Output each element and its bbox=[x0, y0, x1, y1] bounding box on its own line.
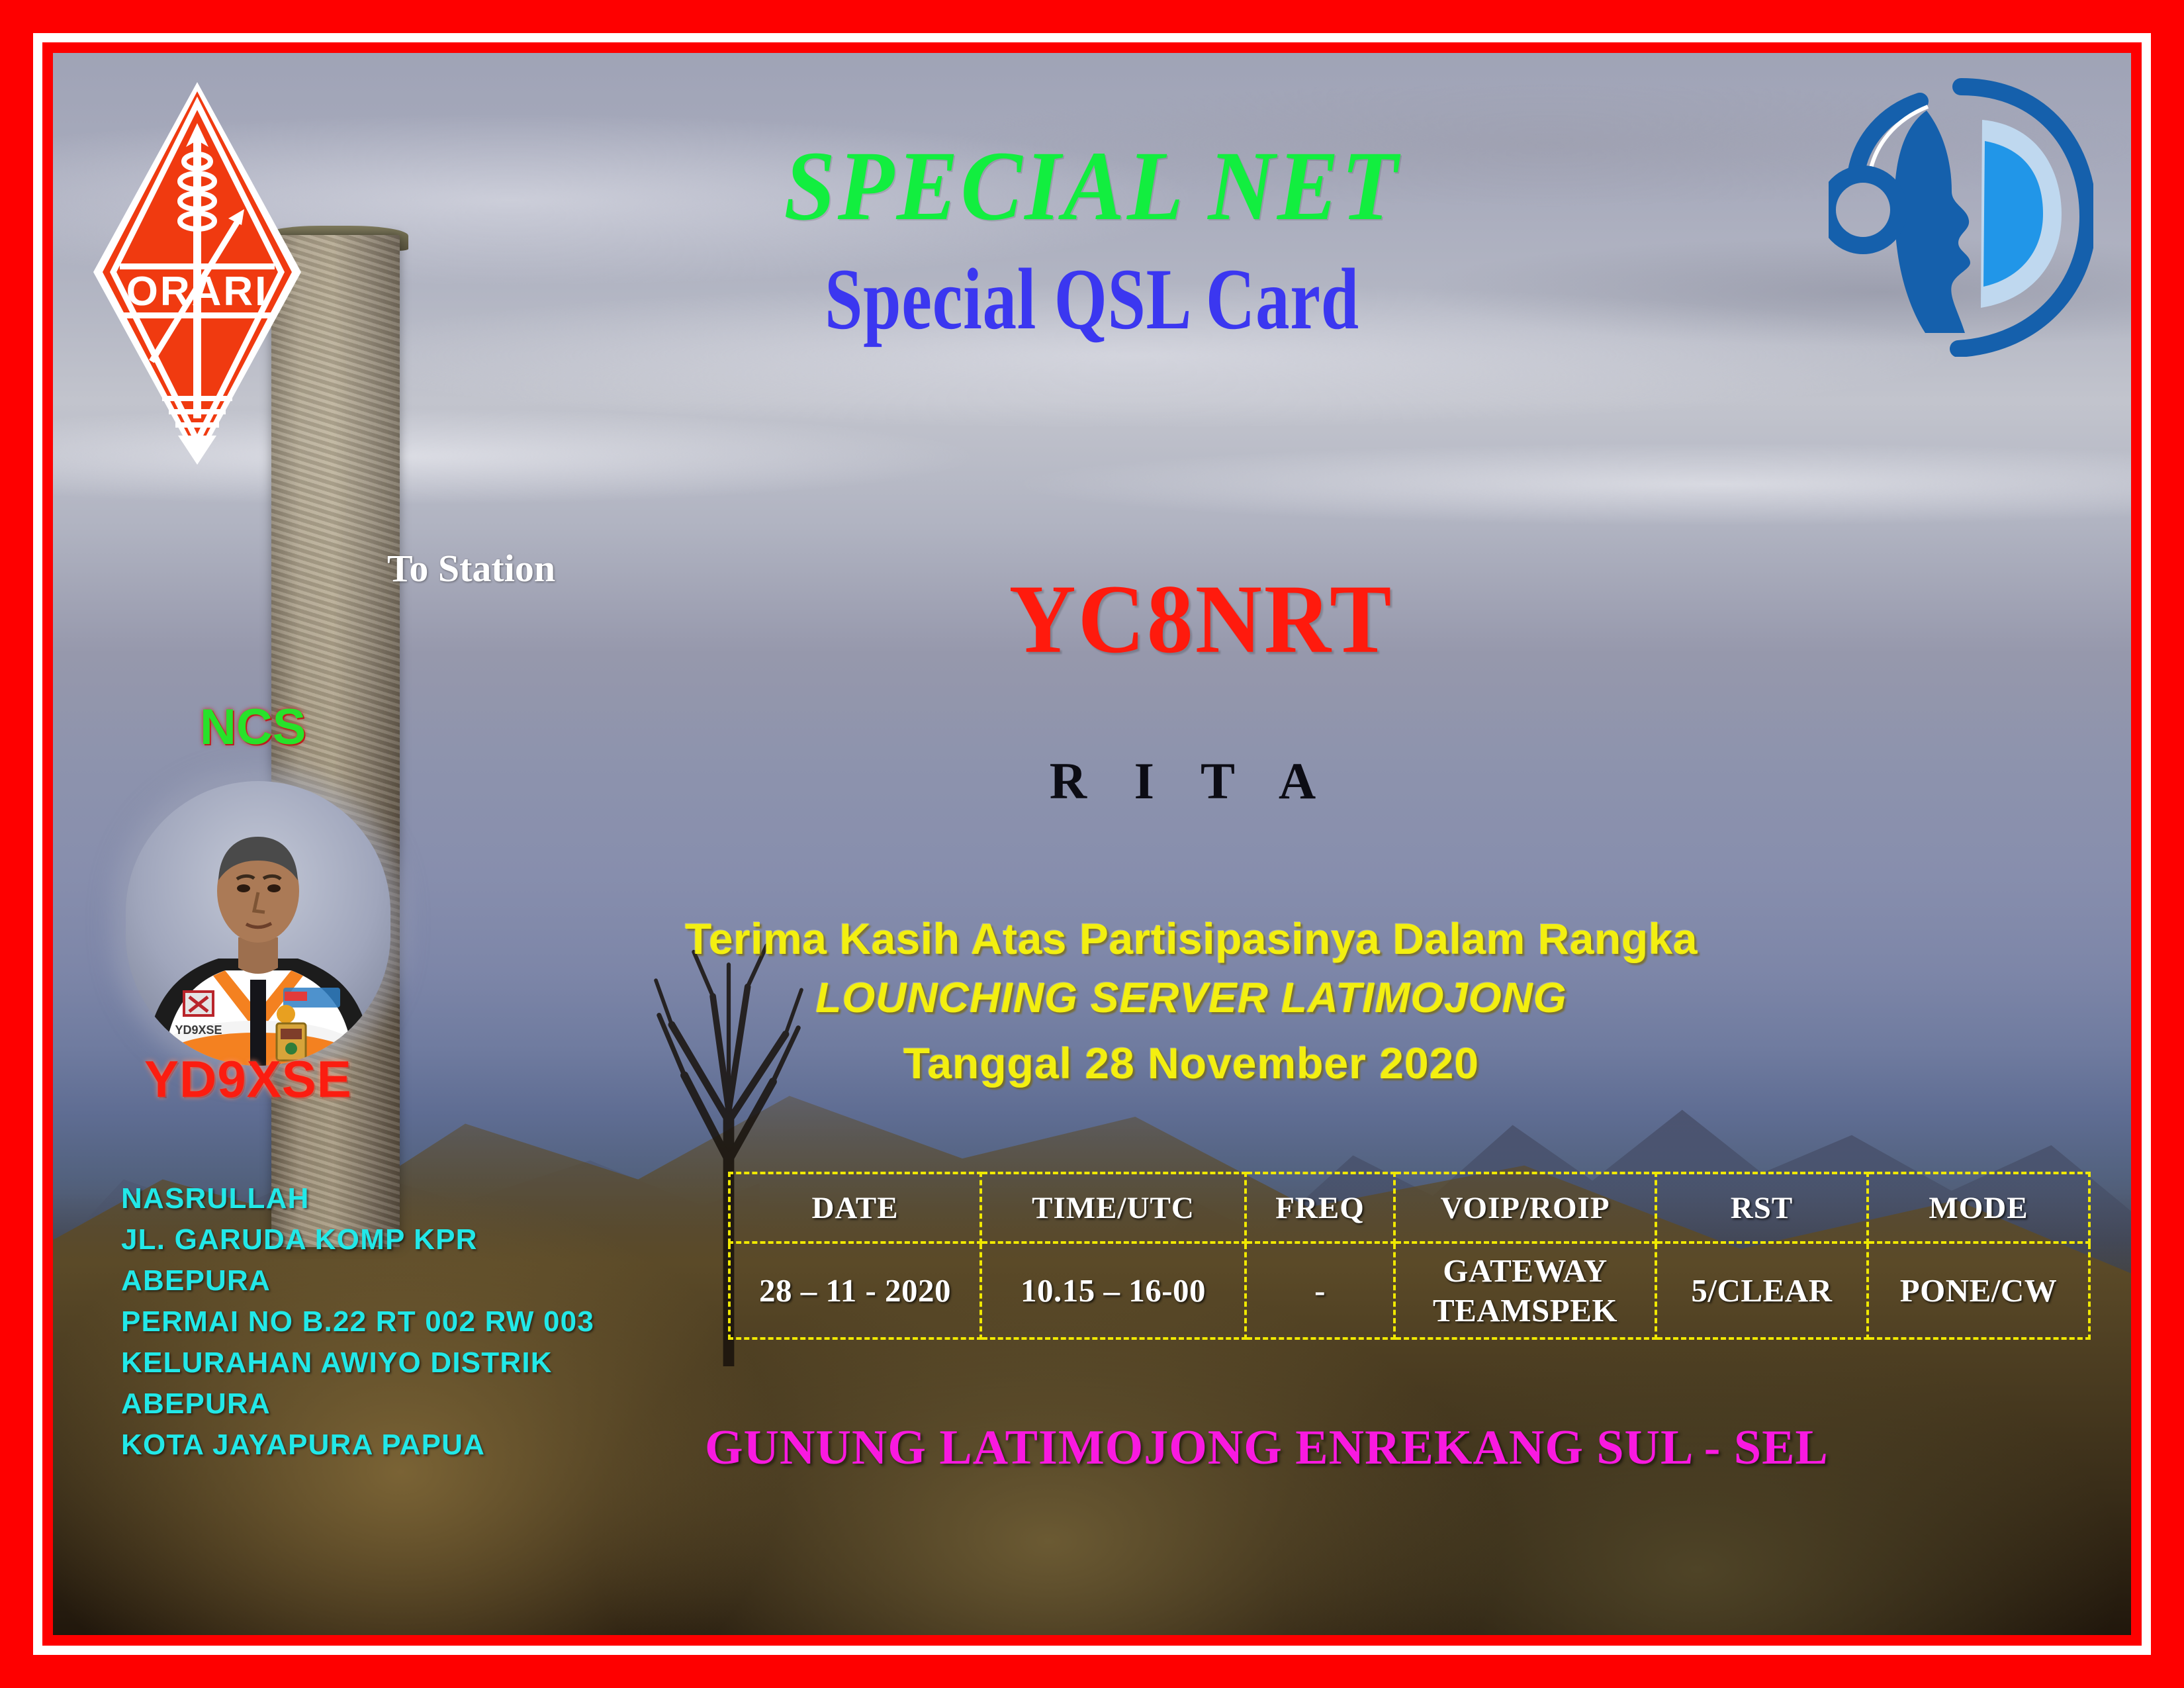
thanks-line-2-event: LOUNCHING SERVER LATIMOJONG bbox=[53, 973, 2131, 1022]
orari-logo-text: ORARI bbox=[126, 269, 269, 314]
column-header-freq: FREQ bbox=[1246, 1173, 1394, 1243]
location-line: GUNUNG LATIMOJONG ENREKANG SUL - SEL bbox=[705, 1420, 1829, 1476]
qsl-card: ORARI bbox=[0, 0, 2184, 1688]
address-line-6: ABEPURA bbox=[121, 1383, 594, 1425]
column-header-rst: RST bbox=[1656, 1173, 1868, 1243]
address-line-1: NASRULLAH bbox=[121, 1178, 594, 1219]
column-header-voip: VOIP/ROIP bbox=[1394, 1173, 1656, 1243]
background-photo-mountain-summit: ORARI bbox=[53, 53, 2131, 1635]
thanks-line-1: Terima Kasih Atas Partisipasinya Dalam R… bbox=[53, 914, 2131, 964]
shirt-badge-callsign: YD9XSE bbox=[175, 1023, 222, 1037]
table-header-row: DATE TIME/UTC FREQ VOIP/ROIP RST MODE bbox=[729, 1173, 2089, 1243]
address-line-2: JL. GARUDA KOMP KPR bbox=[121, 1219, 594, 1260]
cell-mode: PONE/CW bbox=[1868, 1243, 2089, 1338]
cell-rst: 5/CLEAR bbox=[1656, 1243, 1868, 1338]
address-line-3: ABEPURA bbox=[121, 1260, 594, 1301]
thanks-line-3-date: Tanggal 28 November 2020 bbox=[53, 1038, 2131, 1088]
address-block: NASRULLAH JL. GARUDA KOMP KPR ABEPURA PE… bbox=[121, 1178, 594, 1466]
column-header-mode: MODE bbox=[1868, 1173, 2089, 1243]
ncs-label: NCS bbox=[200, 698, 306, 756]
cell-voip: GATEWAYTEAMSPEK bbox=[1394, 1243, 1656, 1338]
cell-date: 28 – 11 - 2020 bbox=[729, 1243, 981, 1338]
qso-log-table: DATE TIME/UTC FREQ VOIP/ROIP RST MODE 28… bbox=[728, 1172, 2091, 1340]
cell-time: 10.15 – 16-00 bbox=[981, 1243, 1246, 1338]
station-callsign: YC8NRT bbox=[53, 563, 2131, 676]
address-line-4: PERMAI NO B.22 RT 002 RW 003 bbox=[121, 1301, 594, 1342]
card-red-inner-frame: ORARI bbox=[42, 42, 2142, 1646]
card-white-frame: ORARI bbox=[33, 33, 2151, 1655]
column-header-time: TIME/UTC bbox=[981, 1173, 1246, 1243]
station-operator-name: R I T A bbox=[53, 751, 2131, 811]
page-title-special-net: SPECIAL NET bbox=[126, 129, 2058, 243]
address-line-7: KOTA JAYAPURA PAPUA bbox=[121, 1425, 594, 1466]
address-line-5: KELURAHAN AWIYO DISTRIK bbox=[121, 1342, 594, 1383]
cell-freq: - bbox=[1246, 1243, 1394, 1338]
page-subtitle-special-qsl-card: Special QSL Card bbox=[281, 248, 1902, 350]
column-header-date: DATE bbox=[729, 1173, 981, 1243]
table-row: 28 – 11 - 2020 10.15 – 16-00 - GATEWAYTE… bbox=[729, 1243, 2089, 1338]
